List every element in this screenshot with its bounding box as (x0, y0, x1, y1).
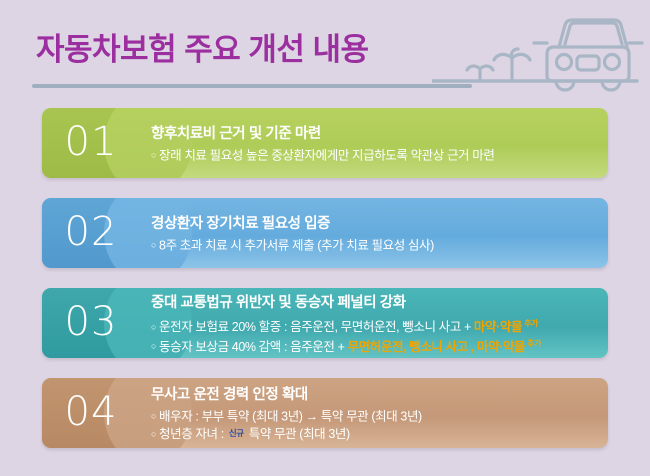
improvement-row-02[interactable]: 02 경상환자 장기치료 필요성 입증 ○8주 초과 치료 시 추가서류 제출 … (42, 198, 608, 268)
improvement-row-01[interactable]: 01 향후치료비 근거 및 기준 마련 ○장래 치료 필요성 높은 중상환자에게… (42, 108, 608, 178)
row-body-01: 향후치료비 근거 및 기준 마련 ○장래 치료 필요성 높은 중상환자에게만 지… (147, 108, 598, 178)
row-bullets-03: ○운전자 보험료 20% 할증 : 음주운전, 무면허운전, 뺑소니 사고 + … (151, 316, 598, 355)
row-heading-04: 무사고 운전 경력 인정 확대 (151, 383, 598, 404)
row-heading-01: 향후치료비 근거 및 기준 마련 (151, 122, 598, 143)
row-heading-02: 경상환자 장기치료 필요성 입증 (151, 212, 598, 233)
bullet-item: ○장래 치료 필요성 높은 중상환자에게만 지급하도록 약관상 근거 마련 (151, 147, 598, 164)
improvement-rows-list: 01 향후치료비 근거 및 기준 마련 ○장래 치료 필요성 높은 중상환자에게… (0, 108, 650, 468)
bullet-superscript-note: 추가 (524, 319, 538, 328)
bullet-marker-icon: ○ (151, 240, 156, 250)
bullet-item: ○운전자 보험료 20% 할증 : 음주운전, 무면허운전, 뺑소니 사고 + … (151, 316, 598, 336)
row-number-03: 03 (42, 288, 140, 358)
bullet-item: ○8주 초과 치료 시 추가서류 제출 (추가 치료 필요성 심사) (151, 237, 598, 254)
row-number-02: 02 (42, 198, 140, 268)
bullet-marker-icon: ○ (151, 341, 156, 351)
bullet-item: ○배우자 : 부부 특약 (최대 3년) → 특약 무관 (최대 3년) (151, 408, 598, 425)
row-body-04: 무사고 운전 경력 인정 확대 ○배우자 : 부부 특약 (최대 3년) → 특… (147, 378, 598, 448)
row-number-04: 04 (42, 378, 140, 448)
row-number-01: 01 (42, 108, 140, 178)
bullet-marker-icon: ○ (151, 150, 156, 160)
bullet-text: 운전자 보험료 20% 할증 : 음주운전, 무면허운전, 뺑소니 사고 + (159, 320, 474, 334)
bullet-text: 배우자 : 부부 특약 (최대 3년) → 특약 무관 (최대 3년) (159, 410, 422, 424)
bullet-highlight-text: 마약·약물 (474, 320, 522, 334)
improvement-row-03[interactable]: 03 중대 교통법규 위반자 및 동승자 페널티 강화 ○운전자 보험료 20%… (42, 288, 608, 358)
page-header: 자동차보험 주요 개선 내용 (0, 0, 650, 108)
bullet-marker-icon: ○ (151, 322, 156, 332)
bullet-text: 장래 치료 필요성 높은 중상환자에게만 지급하도록 약관상 근거 마련 (159, 149, 494, 163)
row-bullets-02: ○8주 초과 치료 시 추가서류 제출 (추가 치료 필요성 심사) (151, 237, 598, 254)
bullet-text: 8주 초과 치료 시 추가서류 제출 (추가 치료 필요성 심사) (159, 239, 434, 253)
row-heading-03: 중대 교통법규 위반자 및 동승자 페널티 강화 (151, 291, 598, 312)
row-bullets-01: ○장래 치료 필요성 높은 중상환자에게만 지급하도록 약관상 근거 마련 (151, 147, 598, 164)
car-front-illustration-icon (432, 2, 644, 98)
page-title: 자동차보험 주요 개선 내용 (36, 24, 369, 69)
bullet-item: ○동승자 보상금 40% 감액 : 음주운전 + 무면허운전, 뺑소니 사고 ,… (151, 336, 598, 356)
bullet-item: ○청년층 자녀 : 신규 특약 무관 (최대 3년) (151, 425, 598, 443)
bullet-marker-icon: ○ (151, 411, 156, 421)
row-bullets-04: ○배우자 : 부부 특약 (최대 3년) → 특약 무관 (최대 3년) ○청년… (151, 408, 598, 443)
new-badge: 신규 (229, 428, 244, 438)
bullet-text: 동승자 보상금 40% 감액 : 음주운전 + (159, 340, 348, 354)
bullet-marker-icon: ○ (151, 429, 156, 439)
title-underline-divider (32, 84, 472, 88)
improvement-row-04[interactable]: 04 무사고 운전 경력 인정 확대 ○배우자 : 부부 특약 (최대 3년) … (42, 378, 608, 448)
bullet-text: 특약 무관 (최대 3년) (246, 427, 350, 441)
bullet-highlight-text: 무면허운전, 뺑소니 사고 , 마약·약물 (348, 340, 526, 354)
row-body-03: 중대 교통법규 위반자 및 동승자 페널티 강화 ○운전자 보험료 20% 할증… (147, 288, 598, 358)
row-body-02: 경상환자 장기치료 필요성 입증 ○8주 초과 치료 시 추가서류 제출 (추가… (147, 198, 598, 268)
bullet-superscript-note: 추가 (527, 339, 541, 348)
bullet-text: 청년층 자녀 : (159, 427, 227, 441)
